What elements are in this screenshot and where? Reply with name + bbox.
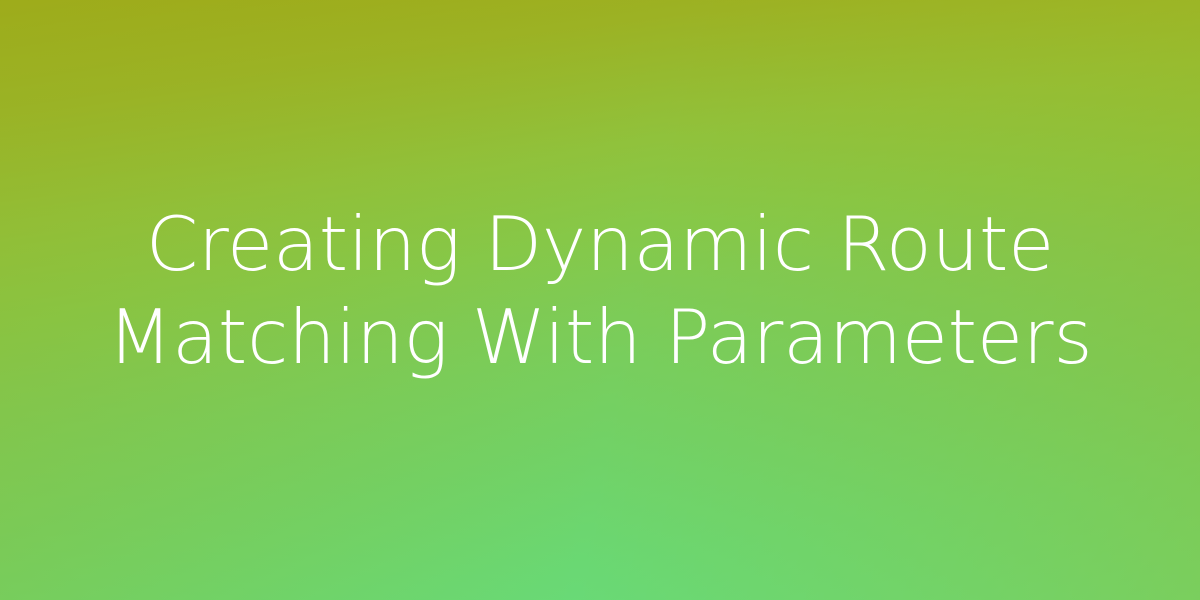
banner-title-line-1: Creating Dynamic Route [0, 198, 1200, 291]
banner-title-line-2: Matching With Parameters [0, 291, 1200, 384]
banner-title-block: Creating Dynamic Route Matching With Par… [0, 198, 1200, 402]
banner-card: Creating Dynamic Route Matching With Par… [0, 0, 1200, 600]
